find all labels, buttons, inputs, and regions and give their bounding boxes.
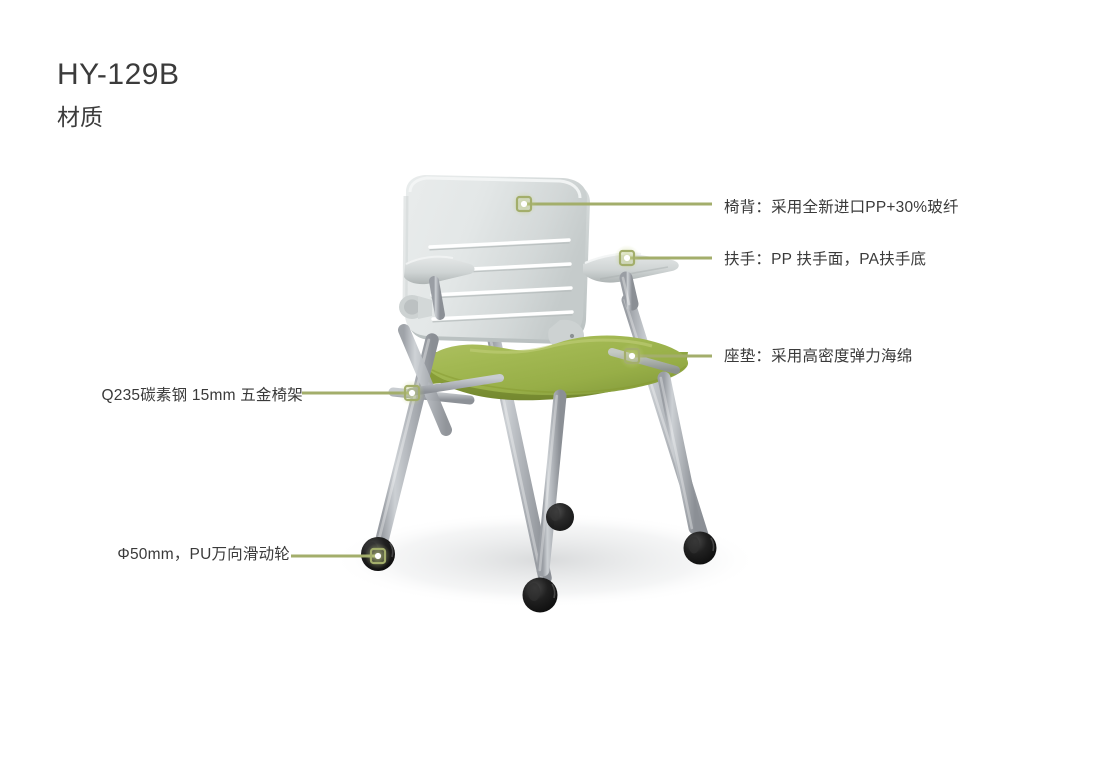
callout-label-back: 椅背：采用全新进口PP+30%玻纤 <box>724 198 959 218</box>
callout-seat <box>619 343 712 369</box>
back-vent-slots <box>430 240 572 322</box>
callout-marker-dot-castor <box>375 553 381 559</box>
page-subtitle: 材质 <box>57 104 179 130</box>
callout-marker-dot-back <box>521 201 527 207</box>
callout-marker-dot-frame <box>409 390 415 396</box>
castor-wheel-left-front <box>361 537 395 571</box>
callout-marker-frame[interactable] <box>405 386 419 400</box>
callout-marker-armrest[interactable] <box>620 251 634 265</box>
callout-marker-dot-seat <box>629 353 635 359</box>
chair-back-shell <box>405 175 590 350</box>
castor-wheels <box>361 503 717 613</box>
callout-label-castor: Φ50mm，PU万向滑动轮 <box>117 545 290 565</box>
page-root: HY-129B 材质 <box>0 0 1100 777</box>
callout-marker-castor[interactable] <box>371 549 385 563</box>
fold-hinge <box>399 295 432 319</box>
callout-label-frame: Q235碳素钢 15mm 五金椅架 <box>102 386 304 406</box>
marker-glow-armrest <box>614 245 640 271</box>
page-title: HY-129B <box>57 58 179 93</box>
callout-castor <box>291 543 391 569</box>
chair-armrests <box>404 253 679 315</box>
callout-marker-back[interactable] <box>517 197 531 211</box>
marker-glow-castor <box>365 543 391 569</box>
castor-wheel-rear-right <box>684 532 717 565</box>
marker-glow-frame <box>399 380 425 406</box>
chair-frame-front <box>379 330 695 570</box>
callout-label-seat: 座垫：采用高密度弹力海绵 <box>724 347 912 367</box>
callout-marker-seat[interactable] <box>625 349 639 363</box>
callout-armrest <box>614 245 712 271</box>
heading-block: HY-129B 材质 <box>57 58 179 130</box>
callout-leader-lines <box>291 191 712 569</box>
marker-glow-back <box>511 191 537 217</box>
callout-marker-dot-armrest <box>624 255 630 261</box>
callout-back <box>511 191 712 217</box>
seat-cushion <box>423 335 688 400</box>
chair-frame-rear <box>489 300 702 578</box>
castor-wheel-rear-left <box>546 503 574 531</box>
castor-wheel-middle <box>523 578 558 613</box>
marker-glow-seat <box>619 343 645 369</box>
floor-shadow <box>330 512 760 608</box>
callout-frame <box>302 380 425 406</box>
callout-label-armrest: 扶手：PP 扶手面，PA扶手底 <box>724 250 926 270</box>
